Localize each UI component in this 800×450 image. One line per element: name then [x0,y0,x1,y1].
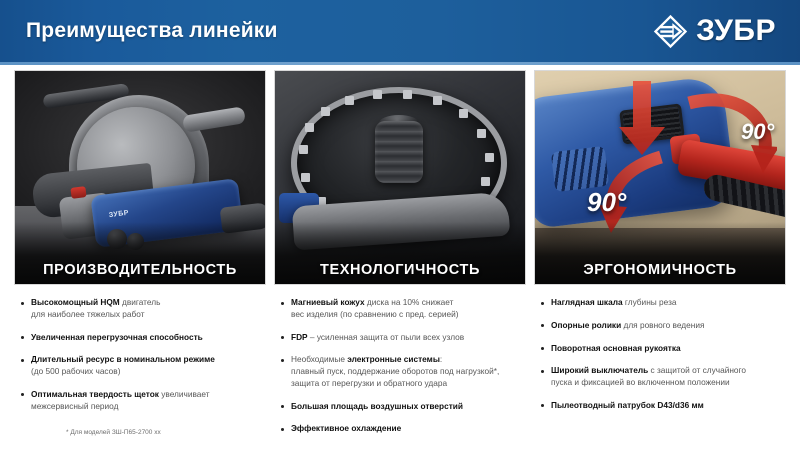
disc-segment [373,90,382,99]
bullet-bold: электронные системы [347,354,440,364]
bullet-bold: Длительный ресурс в номинальном режиме [31,354,215,364]
brand-wordmark: ЗУБР [696,16,776,46]
bullet-line3: защита от перегрузки и обратного удара [291,378,447,388]
disc-segment [301,173,310,182]
technology-bullet-list: Магниевый кожух диска на 10% снижает вес… [274,285,526,435]
bullet-rest: : [440,354,442,364]
ergonomics-photo: 90° 90° ЭРГОНОМИЧНОСТЬ [534,70,786,285]
bullet-bold: FDP [291,332,308,342]
bullet-bold: Увеличенная перегрузочная способность [31,332,203,342]
disc-segment [481,177,490,186]
list-item: Большая площадь воздушных отверстий [280,401,522,413]
slide-root: Преимущества линейки ЗУБР [0,0,800,450]
disc-segment [345,96,354,105]
list-item: Поворотная основная рукоятка [540,343,782,355]
list-item: Наглядная шкала глубины реза [540,297,782,309]
card-caption-performance: ПРОИЗВОДИТЕЛЬНОСТЬ [15,262,265,278]
bullet-line2: (до 500 рабочих часов) [31,366,120,376]
bullet-rest: с защитой от случайного [648,365,746,375]
bullet-rest: глубины реза [623,297,677,307]
page-title: Преимущества линейки [26,19,278,43]
technology-photo: ТЕХНОЛОГИЧНОСТЬ [274,70,526,285]
performance-photo: ЗУБР ПРОИЗВОДИТЕЛЬНОСТЬ [14,70,266,285]
bullet-bold: Большая площадь воздушных отверстий [291,401,463,411]
bullet-line2: межсервисный период [31,401,118,411]
arrow-down-icon [613,81,669,159]
list-item: FDP – усиленная защита от пыли всех узло… [280,332,522,344]
angle-label-right: 90° [741,119,774,145]
list-item: Высокомощный HQM двигатель для наиболее … [20,297,262,321]
list-item: Эффективное охлаждение [280,423,522,435]
bullet-line2: вес изделия (по сравнению с пред. серией… [291,309,458,319]
bullet-rest: двигатель [120,297,161,307]
disc-segment [433,96,442,105]
disc-segment [485,153,494,162]
bullet-rest: для ровного ведения [621,320,704,330]
list-item: Пылеотводный патрубок D43/d36 мм [540,400,782,412]
list-item: Длительный ресурс в номинальном режиме (… [20,354,262,378]
bullet-line2: плавный пуск, поддержание оборотов под н… [291,366,499,376]
card-performance: ЗУБР ПРОИЗВОДИТЕЛЬНОСТЬ Высокомощный HQM… [14,70,266,446]
disc-segment [477,129,486,138]
bullet-bold: Высокомощный HQM [31,297,120,307]
header-underline [0,62,800,65]
bullet-bold: Наглядная шкала [551,297,623,307]
bullet-rest: – усиленная защита от пыли всех узлов [308,332,465,342]
list-item: Увеличенная перегрузочная способность [20,332,262,344]
list-item: Необходимые электронные системы: плавный… [280,354,522,389]
disc-hub [375,121,423,183]
bullet-bold: Поворотная основная рукоятка [551,343,681,353]
card-technology: ТЕХНОЛОГИЧНОСТЬ Магниевый кожух диска на… [274,70,526,446]
angle-label-left: 90° [587,187,626,218]
list-item: Широкий выключатель с защитой от случайн… [540,365,782,389]
footnote: * Для моделей ЗШ-П65-2700 хх [66,429,161,436]
performance-bullet-list: Высокомощный HQM двигатель для наиболее … [14,285,266,412]
disc-segment [459,109,468,118]
disc-segment [299,145,308,154]
bullet-bold: Пылеотводный патрубок D43/d36 мм [551,400,704,410]
disc-segment [305,123,314,132]
list-item: Опорные ролики для ровного ведения [540,320,782,332]
bullet-rest: диска на 10% снижает [365,297,454,307]
cards-row: ЗУБР ПРОИЗВОДИТЕЛЬНОСТЬ Высокомощный HQM… [14,70,786,446]
bullet-bold: Эффективное охлаждение [291,423,401,433]
ergonomics-bullet-list: Наглядная шкала глубины реза Опорные рол… [534,285,786,412]
bullet-bold: Оптимальная твердость щеток [31,389,159,399]
bullet-rest: увеличивает [159,389,210,399]
list-item: Оптимальная твердость щеток увеличивает … [20,389,262,413]
slide-header: Преимущества линейки ЗУБР [0,0,800,62]
brand-logo: ЗУБР [652,13,776,50]
card-caption-ergonomics: ЭРГОНОМИЧНОСТЬ [535,262,785,278]
grinder-body-logo: ЗУБР [108,210,129,219]
list-item: Магниевый кожух диска на 10% снижает вес… [280,297,522,321]
bullet-pre: Необходимые [291,354,347,364]
disc-segment [321,107,330,116]
bullet-bold: Опорные ролики [551,320,621,330]
bullet-line2: для наиболее тяжелых работ [31,309,145,319]
grinder-red-button [70,186,86,199]
card-ergonomics: 90° 90° ЭРГОНОМИЧНОСТЬ Наглядная шкала г… [534,70,786,446]
bullet-bold: Магниевый кожух [291,297,365,307]
grinder-dust-spout [182,106,246,132]
card-caption-technology: ТЕХНОЛОГИЧНОСТЬ [275,262,525,278]
bullet-line2: пуска и фиксацией во включенном положени… [551,377,730,387]
bullet-bold: Широкий выключатель [551,365,648,375]
zubr-diamond-arrow-icon [652,13,689,50]
disc-segment [403,90,412,99]
